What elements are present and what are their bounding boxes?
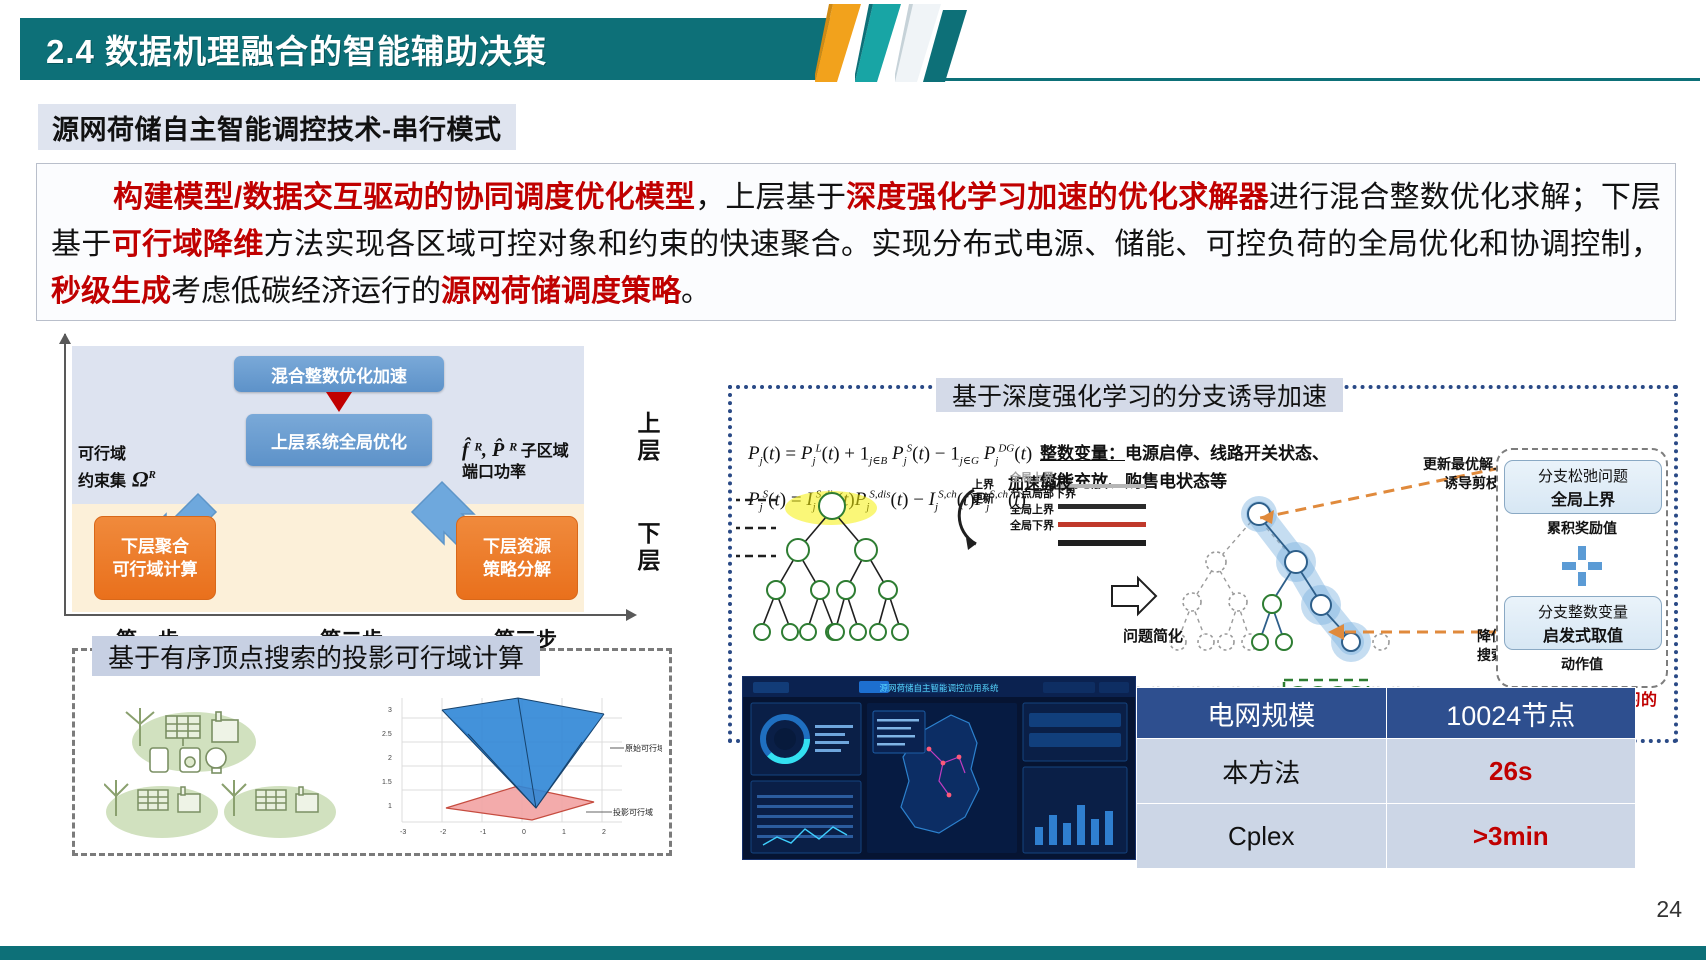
svg-text:2: 2 — [388, 755, 392, 762]
slide-title-bar: 2.4 数据机理融合的智能辅助决策 — [20, 18, 830, 80]
page-number: 24 — [1656, 896, 1682, 923]
der-cluster-illustration — [104, 700, 354, 850]
svg-text:2: 2 — [602, 829, 606, 836]
legend-original-region: 原始可行域 — [625, 743, 662, 753]
summary-paragraph-box: 构建模型/数据交互驱动的协同调度优化模型，上层基于深度强化学习加速的优化求解器进… — [36, 163, 1676, 321]
summary-paragraph-text: 构建模型/数据交互驱动的协同调度优化模型，上层基于深度强化学习加速的优化求解器进… — [51, 174, 1661, 315]
polytope-projection-plot: 32.5 21.5 1 -3-2-1 012 原始可行域 投影可行域 — [372, 690, 662, 852]
bound-legend-item-2: 全局上界 — [1010, 502, 1220, 518]
bilevel-architecture-diagram: 混合整数优化加速 上层系统全局优化 下层聚合 可行域计算 下层资源 策略分解 可… — [38, 334, 628, 624]
svg-text:0: 0 — [522, 829, 526, 836]
heuristic-card-line-2: 启发式取值 — [1543, 622, 1623, 646]
svg-text:-1: -1 — [480, 829, 486, 836]
bound-update-char-1: 上界 — [968, 478, 998, 492]
paragraph-highlight-9: 源网荷储调度策略 — [441, 275, 681, 308]
svg-text:1.5: 1.5 — [382, 779, 392, 786]
port-power-label-1: 子区域 — [521, 441, 569, 462]
paragraph-highlight-5: 可行域降维 — [112, 228, 264, 261]
table-cell-time-cplex: >3min — [1386, 804, 1636, 869]
upper-layer-side-char-1: 上 — [633, 410, 665, 437]
system-screenshot-thumbnail[interactable]: 源网荷储自主智能调控应用系统 — [742, 676, 1136, 860]
lower-layer-side-label: 下 层 — [633, 520, 665, 574]
feasible-region-label-1: 可行域 — [78, 444, 228, 465]
svg-text:2.5: 2.5 — [382, 731, 392, 738]
projection-panel-title-text: 基于有序顶点搜索的投影可行域计算 — [108, 638, 524, 675]
table-cell-method-cplex: Cplex — [1137, 804, 1387, 869]
port-power-symbol: f̂ ᴿ, P̂ ᴿ — [462, 440, 517, 461]
lower-aggregation-box: 下层聚合 可行域计算 — [94, 516, 216, 600]
svg-text:1: 1 — [388, 803, 392, 810]
svg-text:3: 3 — [388, 707, 392, 714]
omega-symbol: ΩR — [132, 465, 156, 489]
svg-text:-3: -3 — [400, 829, 406, 836]
bound-legend-item-0: 全局上界 — [1010, 470, 1220, 486]
table-header-scale: 电网规模 — [1137, 688, 1387, 739]
relaxation-upper-bound-card: 分支松弛问题 全局上界 — [1504, 460, 1662, 514]
lower-dispatch-label-1: 下层资源 — [483, 535, 551, 558]
paragraph-plain-2: ，上层基于 — [695, 181, 846, 214]
heuristic-card-line-1: 分支整数变量 — [1538, 601, 1628, 622]
footer-bar — [0, 946, 1706, 960]
table-cell-time-ours: 26s — [1386, 739, 1636, 804]
table-row: 本方法 26s — [1137, 739, 1636, 804]
paragraph-highlight-3: 深度强化学习加速的优化求解器 — [846, 181, 1269, 214]
red-down-arrow-icon — [326, 392, 352, 412]
upper-global-opt-label: 上层系统全局优化 — [271, 428, 407, 453]
svg-text:-2: -2 — [440, 829, 446, 836]
lower-layer-side-char-2: 层 — [633, 547, 665, 574]
table-cell-method-ours: 本方法 — [1137, 739, 1387, 804]
section-subtitle: 源网荷储自主智能调控技术-串行模式 — [38, 104, 516, 150]
title-stripes-decoration — [815, 2, 995, 86]
plus-connector-icon — [1560, 544, 1604, 588]
problem-simplification-label: 问题简化 — [1098, 625, 1208, 646]
table-header-row: 电网规模 10024节点 — [1137, 688, 1636, 739]
integer-variables-label: 整数变量： — [1040, 444, 1125, 463]
bound-legend-item-3: 全局下界 — [1010, 518, 1220, 534]
paragraph-plain-8: 考虑低碳经济运行的 — [171, 275, 441, 308]
lower-aggregation-label-2: 可行域计算 — [113, 558, 198, 581]
lower-layer-side-char-1: 下 — [633, 520, 665, 547]
table-row: Cplex >3min — [1137, 804, 1636, 869]
lower-dispatch-box: 下层资源 策略分解 — [456, 516, 578, 600]
slide-root: 2.4 数据机理融合的智能辅助决策 源网荷储自主智能调控技术-串行模式 构建模型… — [0, 0, 1706, 960]
feasible-region-constraint-label: 可行域 约束集 ΩR — [78, 444, 228, 492]
branch-integer-heuristic-card: 分支整数变量 启发式取值 — [1504, 596, 1662, 650]
paragraph-plain-10: 。 — [681, 275, 711, 308]
paragraph-highlight-1: 构建模型/数据交互驱动的协同调度优化模型 — [113, 181, 695, 214]
cumulative-reward-label: 累积奖励值 — [1504, 518, 1660, 538]
mip-accel-label: 混合整数优化加速 — [271, 362, 407, 387]
lower-aggregation-label-1: 下层聚合 — [113, 535, 198, 558]
screenshot-system-title: 源网荷储自主智能调控应用系统 — [879, 683, 999, 693]
upper-layer-side-label: 上 层 — [633, 410, 665, 464]
action-value-label: 动作值 — [1504, 654, 1660, 674]
port-power-label-2: 端口功率 — [462, 462, 632, 483]
bound-update-label: 上界 更新 — [968, 478, 998, 506]
bound-update-char-2: 更新 — [968, 492, 998, 506]
legend-projected-region: 投影可行域 — [613, 807, 653, 817]
relaxation-card-line-1: 分支松弛问题 — [1538, 465, 1628, 486]
svg-text:1: 1 — [562, 829, 566, 836]
page-title: 2.4 数据机理融合的智能辅助决策 — [20, 25, 547, 73]
projection-panel-title: 基于有序顶点搜索的投影可行域计算 — [92, 636, 540, 676]
feasible-region-label-2: 约束集 — [78, 471, 126, 492]
paragraph-plain-6: 方法实现各区域可控对象和约束的快速聚合。实现分布式电源、储能、可控负荷的全局优化… — [264, 228, 1661, 261]
performance-comparison-table: 电网规模 10024节点 本方法 26s Cplex >3min — [1136, 687, 1636, 869]
table-header-nodes: 10024节点 — [1386, 688, 1636, 739]
bound-legend: 全局上界 节点局部下界 全局上界 全局下界 — [1010, 470, 1220, 534]
section-subtitle-text: 源网荷储自主智能调控技术-串行模式 — [52, 108, 502, 147]
drl-panel-title-text: 基于深度强化学习的分支诱导加速 — [952, 377, 1327, 413]
lower-dispatch-label-2: 策略分解 — [483, 558, 551, 581]
port-power-label: f̂ ᴿ, P̂ ᴿ 子区域 端口功率 — [462, 440, 632, 483]
upper-layer-side-char-2: 层 — [633, 437, 665, 464]
relaxation-card-line-2: 全局上界 — [1551, 486, 1615, 510]
paragraph-highlight-7: 秒级生成 — [51, 275, 171, 308]
mip-accel-box: 混合整数优化加速 — [234, 356, 444, 392]
title-underline — [940, 78, 1700, 81]
bound-legend-item-1: 节点局部下界 — [1010, 486, 1220, 502]
drl-panel-title: 基于深度强化学习的分支诱导加速 — [936, 378, 1343, 412]
upper-global-opt-box: 上层系统全局优化 — [246, 414, 432, 466]
